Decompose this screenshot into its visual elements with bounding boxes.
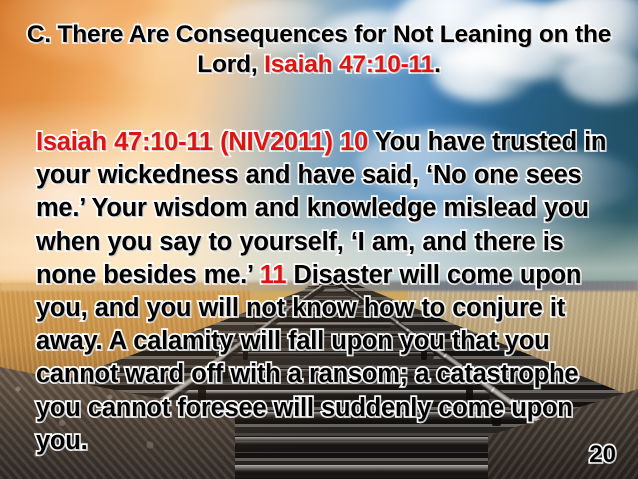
page-number: 20 bbox=[589, 441, 616, 469]
verse-number-11: 11 bbox=[260, 261, 286, 289]
title-suffix: . bbox=[434, 51, 441, 78]
presentation-slide: C. There Are Consequences for Not Leanin… bbox=[0, 0, 638, 479]
scripture-passage: Isaiah 47:10-11 (NIV2011) 10 You have tr… bbox=[36, 126, 610, 458]
verse-reference: Isaiah 47:10-11 (NIV2011) bbox=[36, 128, 340, 156]
slide-title: C. There Are Consequences for Not Leanin… bbox=[22, 20, 616, 80]
title-scripture-reference: Isaiah 47:10-11 bbox=[264, 51, 434, 78]
verse-text-11: Disaster will come upon you, and you wil… bbox=[36, 261, 581, 455]
slide-text-layer: C. There Are Consequences for Not Leanin… bbox=[0, 0, 638, 479]
verse-number-10: 10 bbox=[340, 128, 368, 156]
